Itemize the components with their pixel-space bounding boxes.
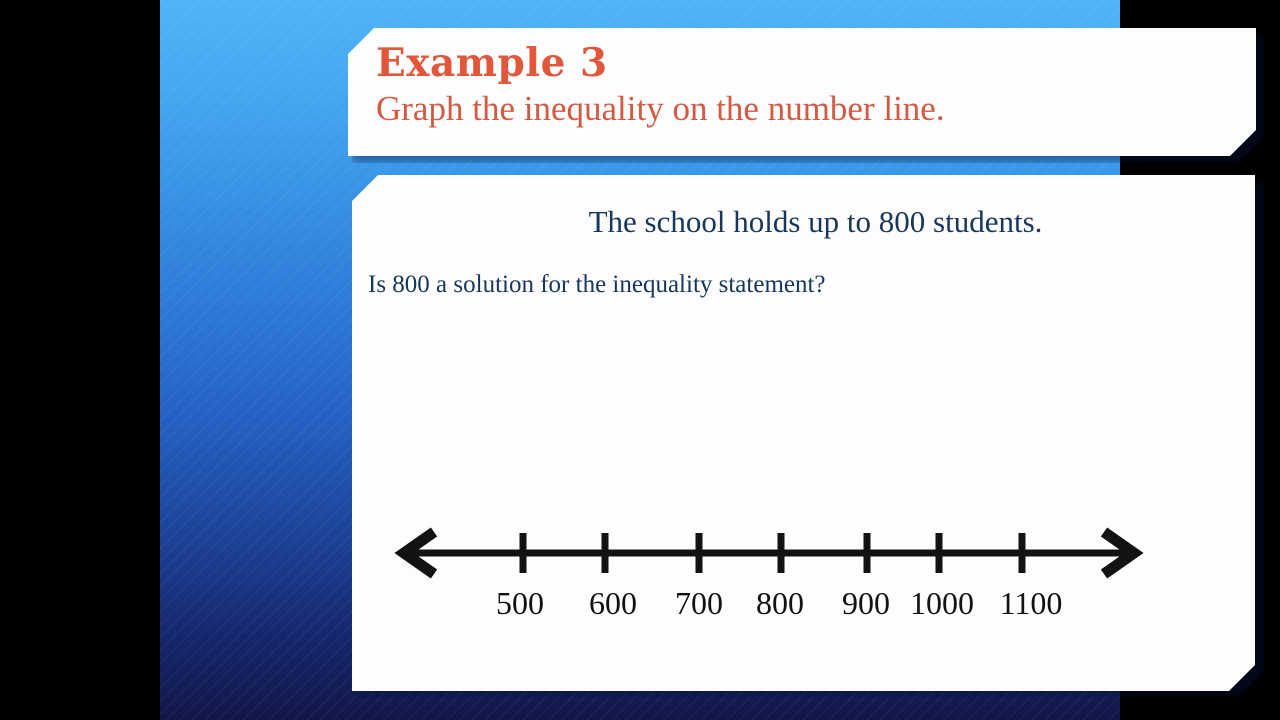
body-content: The school holds up to 800 students. Is … bbox=[352, 175, 1255, 691]
header-card: Example 3 Graph the inequality on the nu… bbox=[348, 28, 1256, 156]
slide-canvas: Example 3 Graph the inequality on the nu… bbox=[0, 0, 1280, 720]
page-subtitle: Graph the inequality on the number line. bbox=[376, 88, 1240, 130]
number-line-figure: 50060070080090010001100 bbox=[392, 505, 1212, 635]
body-card: The school holds up to 800 students. Is … bbox=[352, 175, 1255, 691]
header-text-block: Example 3 Graph the inequality on the nu… bbox=[376, 40, 1240, 130]
number-line-tick-label: 900 bbox=[842, 585, 890, 621]
word-problem-statement: The school holds up to 800 students. bbox=[352, 203, 1255, 241]
number-line-tick-label: 1000 bbox=[910, 585, 974, 621]
number-line-tick-label: 700 bbox=[675, 585, 723, 621]
number-line-tick-label: 600 bbox=[589, 585, 637, 621]
question-prompt: Is 800 a solution for the inequality sta… bbox=[368, 269, 826, 301]
slide-background: Example 3 Graph the inequality on the nu… bbox=[160, 0, 1120, 720]
number-line-tick-label: 500 bbox=[496, 585, 544, 621]
number-line-tick-label: 800 bbox=[756, 585, 804, 621]
page-title: Example 3 bbox=[376, 40, 1240, 86]
number-line-tick-label: 1100 bbox=[1000, 585, 1063, 621]
